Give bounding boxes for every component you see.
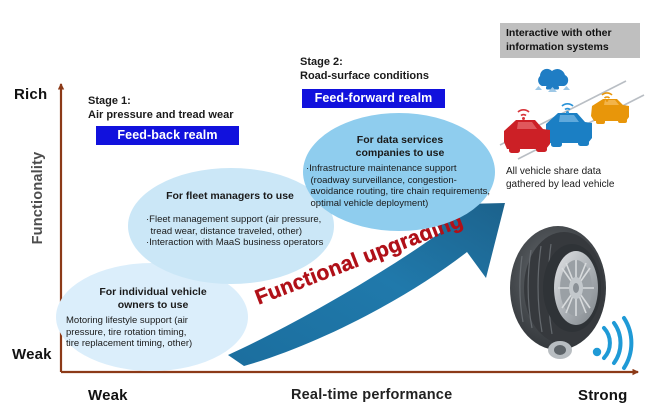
bubble-data-bullet-1: ·Infrastructure maintenance support (roa… xyxy=(306,163,492,209)
bubble-individual-title: For individual vehicle owners to use xyxy=(58,286,248,311)
stage-2-heading-l1: Stage 2: xyxy=(300,56,429,70)
bubble-data-title: For data services companies to use xyxy=(305,134,495,159)
interactive-systems-box-l1: Interactive with other xyxy=(506,27,640,41)
bubble-fleet-bullet-1: ·Fleet management support (air pressure,… xyxy=(146,214,326,237)
bubble-fleet-bullet-2: ·Interaction with MaaS business operator… xyxy=(146,237,326,249)
bubble-data-body: ·Infrastructure maintenance support (roa… xyxy=(306,163,492,209)
stage-1-heading-l1: Stage 1: xyxy=(88,95,234,109)
bubble-individual-body-l3: tire replacement timing, other) xyxy=(66,338,244,350)
lead-vehicle-red xyxy=(504,110,550,153)
wifi-icon-red xyxy=(518,110,529,116)
diagram-canvas: Rich Weak Functionality Weak Real-time p… xyxy=(0,0,650,413)
connected-vehicles-illustration xyxy=(494,62,646,162)
vehicles-caption-l1: All vehicle share data xyxy=(506,166,646,179)
bubble-fleet-title: For fleet managers to use xyxy=(130,190,330,203)
bubble-individual-title-l1: For individual vehicle xyxy=(58,286,248,299)
bubble-data-title-l1: For data services xyxy=(305,134,495,147)
interactive-systems-box-l2: information systems xyxy=(506,41,640,55)
vehicles-caption: All vehicle share data gathered by lead … xyxy=(506,166,646,191)
wifi-icon-orange xyxy=(602,93,612,98)
stage-2-heading-l2: Road-surface conditions xyxy=(300,70,429,84)
bubble-individual-body-l1: Motoring lifestyle support (air xyxy=(66,315,244,327)
tire-signal-icon xyxy=(604,318,631,368)
feed-forward-realm-badge: Feed-forward realm xyxy=(302,89,445,108)
stage-1-heading: Stage 1: Air pressure and tread wear xyxy=(88,95,234,122)
bubble-individual-body-l2: pressure, tire rotation timing, xyxy=(66,327,244,339)
vehicle-orange xyxy=(591,93,629,124)
stage-2-heading: Stage 2: Road-surface conditions xyxy=(300,56,429,83)
bubble-individual-title-l2: owners to use xyxy=(58,299,248,312)
interactive-systems-box: Interactive with other information syste… xyxy=(500,23,640,58)
bubble-fleet-body: ·Fleet management support (air pressure,… xyxy=(146,214,326,249)
bubble-data-title-l2: companies to use xyxy=(305,147,495,160)
tire-illustration xyxy=(496,222,646,372)
cloud-icon xyxy=(535,69,570,92)
stage-1-heading-l2: Air pressure and tread wear xyxy=(88,109,234,123)
vehicles-caption-l2: gathered by lead vehicle xyxy=(506,179,646,192)
feed-back-realm-badge: Feed-back realm xyxy=(96,126,239,145)
bubble-individual-body: Motoring lifestyle support (air pressure… xyxy=(66,315,244,350)
